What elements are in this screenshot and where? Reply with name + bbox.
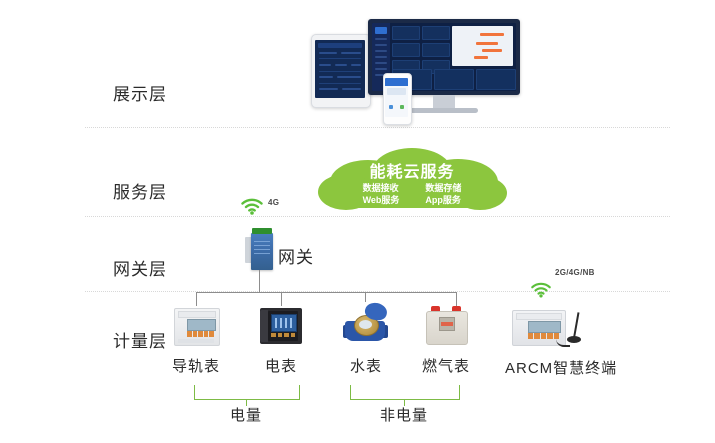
bracket-electric-group — [194, 385, 300, 400]
cloud-title: 能耗云服务 — [316, 158, 508, 182]
tablet-screen — [315, 40, 365, 98]
gas-meter-register — [439, 317, 455, 331]
cloud-feature-app-service: App服务 — [425, 194, 461, 206]
phone-app-header — [385, 78, 408, 86]
water-meter-label: 水表 — [341, 355, 391, 376]
connector-drop-gas — [456, 292, 457, 306]
connector-drop-water — [365, 292, 366, 302]
din-rail-meter-device — [174, 308, 218, 344]
gateway-body — [251, 233, 273, 270]
electric-meter-device — [260, 308, 302, 344]
gas-meter-device — [424, 306, 468, 344]
din-rail-meter-display — [187, 319, 216, 331]
wifi-icon-gateway — [240, 197, 264, 215]
layer-label-metering: 计量层 — [113, 327, 167, 352]
network-tag-4g: 4G — [268, 198, 279, 207]
group-label-non-electric: 非电量 — [364, 404, 444, 425]
layer-separator-service — [85, 216, 670, 217]
electric-meter-label: 电表 — [258, 355, 304, 376]
gateway-label: 网关 — [278, 243, 314, 268]
din-rail-meter-terminal-top — [178, 311, 216, 318]
monitor-stand-neck — [433, 95, 455, 109]
gateway-terminal-block — [252, 228, 272, 234]
bracket-non-electric-group — [350, 385, 460, 400]
arcm-antenna-base — [567, 336, 581, 343]
arcm-antenna-rod — [573, 312, 579, 338]
layer-separator-display — [85, 127, 670, 128]
connector-drop-electric — [281, 292, 282, 306]
cloud-feature-data-receive: 数据接收 — [363, 182, 400, 194]
wifi-icon-arcm — [530, 281, 552, 298]
gateway-device — [245, 228, 275, 270]
water-meter-device — [343, 303, 389, 343]
monitor-stand-base — [410, 108, 478, 113]
cloud-feature-web-service: Web服务 — [363, 194, 400, 206]
tablet-device — [311, 34, 369, 106]
arcm-terminal-device — [512, 310, 584, 346]
arcm-terminal-display — [528, 321, 561, 333]
network-tag-2g-4g-nb: 2G/4G/NB — [555, 268, 595, 277]
water-meter-register — [359, 320, 372, 329]
arcm-terminal-label: ARCM智慧终端 — [505, 357, 615, 378]
architecture-diagram: 展示层 服务层 网关层 计量层 — [0, 0, 715, 443]
connector-bus — [196, 292, 456, 293]
connector-gateway-trunk — [259, 270, 260, 292]
din-rail-meter-terminal-bottom — [178, 339, 214, 343]
din-rail-meter-buttons — [187, 331, 214, 337]
cloud-features: 数据接收 Web服务 数据存储 App服务 — [316, 182, 508, 206]
layer-label-display: 展示层 — [113, 80, 167, 105]
gas-meter-label: 燃气表 — [417, 355, 475, 376]
layer-label-gateway: 网关层 — [113, 255, 167, 280]
din-rail-meter-label: 导轨表 — [166, 355, 226, 376]
arcm-terminal-top-strip — [516, 313, 562, 320]
electric-meter-side — [260, 310, 268, 342]
cloud-service: 能耗云服务 数据接收 Web服务 数据存储 App服务 — [316, 146, 508, 212]
cloud-feature-column-right: 数据存储 App服务 — [425, 182, 461, 206]
connector-drop-din — [196, 292, 197, 306]
phone-device — [383, 73, 410, 123]
electric-meter-display — [271, 314, 297, 332]
cloud-feature-column-left: 数据接收 Web服务 — [363, 182, 400, 206]
electric-meter-buttons — [271, 333, 295, 337]
dashboard-map-panel — [452, 26, 513, 66]
group-label-electric: 电量 — [206, 404, 286, 425]
arcm-terminal-buttons — [528, 333, 559, 339]
phone-screen — [385, 78, 408, 117]
layer-label-service: 服务层 — [113, 178, 167, 203]
cloud-feature-data-storage: 数据存储 — [425, 182, 461, 194]
